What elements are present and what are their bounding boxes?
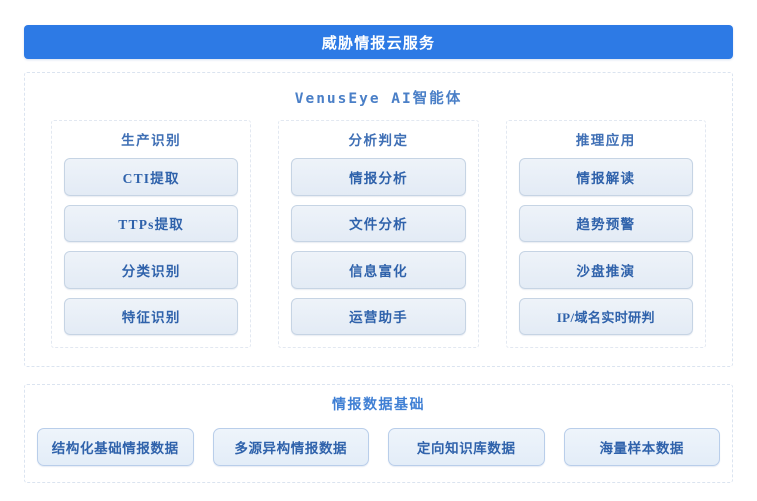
intel-data-foundation-section: 情报数据基础 结构化基础情报数据 多源异构情报数据 定向知识库数据 海量样本数据 [24, 384, 733, 483]
agent-column-production-recognition: 生产识别 CTI提取 TTPs提取 分类识别 特征识别 [51, 120, 251, 348]
capability-pill[interactable]: 情报解读 [519, 158, 693, 196]
capability-pill[interactable]: 情报分析 [291, 158, 465, 196]
data-source-pill[interactable]: 结构化基础情报数据 [37, 428, 194, 466]
capability-pill[interactable]: 信息富化 [291, 251, 465, 289]
capability-pill[interactable]: 分类识别 [64, 251, 238, 289]
venuseye-agent-section: VenusEye AI智能体 生产识别 CTI提取 TTPs提取 分类识别 特征… [24, 72, 733, 367]
capability-pill[interactable]: 趋势预警 [519, 205, 693, 243]
capability-pill[interactable]: CTI提取 [64, 158, 238, 196]
threat-intel-cloud-banner: 威胁情报云服务 [24, 25, 733, 59]
capability-pill[interactable]: 运营助手 [291, 298, 465, 336]
data-item-list: 结构化基础情报数据 多源异构情报数据 定向知识库数据 海量样本数据 [37, 423, 720, 470]
agent-columns: 生产识别 CTI提取 TTPs提取 分类识别 特征识别 分析判定 情报分析 文件… [51, 120, 706, 348]
capability-pill[interactable]: 文件分析 [291, 205, 465, 243]
data-section-title: 情报数据基础 [37, 394, 720, 414]
diagram-root: 威胁情报云服务 VenusEye AI智能体 生产识别 CTI提取 TTPs提取… [0, 0, 757, 501]
data-source-pill[interactable]: 海量样本数据 [564, 428, 721, 466]
capability-pill[interactable]: 特征识别 [64, 298, 238, 336]
data-source-pill[interactable]: 多源异构情报数据 [213, 428, 370, 466]
column-item-list: CTI提取 TTPs提取 分类识别 特征识别 [64, 158, 238, 335]
column-title: 分析判定 [291, 129, 465, 149]
column-title: 生产识别 [64, 129, 238, 149]
data-source-pill[interactable]: 定向知识库数据 [388, 428, 545, 466]
banner-title: 威胁情报云服务 [322, 32, 435, 53]
column-item-list: 情报分析 文件分析 信息富化 运营助手 [291, 158, 465, 335]
capability-pill[interactable]: 沙盘推演 [519, 251, 693, 289]
capability-pill[interactable]: TTPs提取 [64, 205, 238, 243]
agent-section-title: VenusEye AI智能体 [51, 87, 706, 108]
agent-column-reasoning-application: 推理应用 情报解读 趋势预警 沙盘推演 IP/域名实时研判 [506, 120, 706, 348]
column-item-list: 情报解读 趋势预警 沙盘推演 IP/域名实时研判 [519, 158, 693, 335]
capability-pill[interactable]: IP/域名实时研判 [519, 298, 693, 336]
agent-column-analysis-judgement: 分析判定 情报分析 文件分析 信息富化 运营助手 [278, 120, 478, 348]
column-title: 推理应用 [519, 129, 693, 149]
